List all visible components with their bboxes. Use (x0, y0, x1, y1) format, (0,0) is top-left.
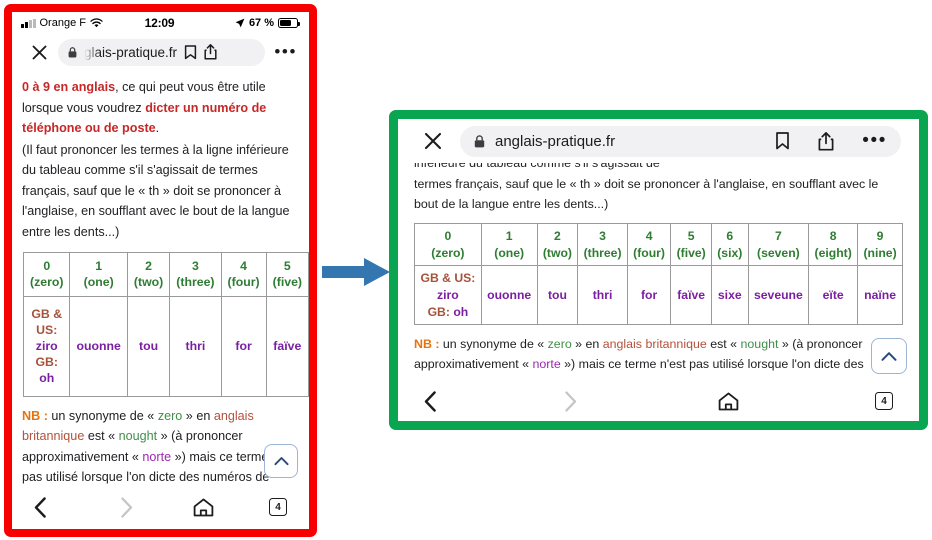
screenshot-canvas: Orange F 12:09 67 % (0, 0, 932, 540)
header-cell-7: 7 (seven) (748, 224, 809, 266)
digit-0: 0 (445, 229, 452, 243)
word-1: (one) (84, 275, 114, 289)
header-cell-5: 5 (five) (671, 224, 712, 266)
pron-cell-0: GB & US: ziro GB: oh (415, 266, 482, 325)
word-2: (two) (134, 275, 163, 289)
word-2: (two) (543, 246, 572, 260)
pron-cell-3: thri (578, 266, 628, 325)
word-3: (three) (176, 275, 214, 289)
table-header-row: 0 (zero) 1 (one) 2 (two) (415, 224, 903, 266)
numbers-table-wrapper-right: 0 (zero) 1 (one) 2 (two) (414, 223, 903, 325)
pron-0: ziro (437, 288, 459, 302)
nb-part-2: » en (182, 409, 214, 423)
nb-part-2: » en (572, 337, 603, 351)
tab-count-badge: 4 (269, 498, 287, 516)
share-icon[interactable] (818, 132, 834, 151)
phone-screenshot-right: anglais-pratique.fr ••• inférieure du ta… (389, 110, 928, 430)
pron-cell-5: faïve (671, 266, 712, 325)
pron-cell-2: tou (127, 296, 169, 396)
browser-bottom-nav-right: 4 (398, 381, 919, 421)
forward-button-right (534, 391, 674, 412)
clipped-text-row: inférieure du tableau comme s'il s'agiss… (414, 163, 903, 172)
wifi-icon (90, 18, 103, 28)
header-cell-3: 3 (three) (170, 253, 221, 296)
pron-cell-4: for (221, 296, 266, 396)
browser-bottom-nav-left: 4 (12, 485, 309, 529)
zero-alt: oh (39, 371, 54, 385)
status-bar: Orange F 12:09 67 % (12, 12, 309, 34)
page-content-right: inférieure du tableau comme s'il s'agiss… (398, 163, 919, 374)
word-7: (seven) (757, 246, 800, 260)
word-4: (four) (228, 275, 260, 289)
numbers-table-wrapper-left: 0 (zero) 1 (one) 2 (two) 3 (23, 252, 309, 396)
nb-norte: norte (142, 450, 171, 464)
header-cell-0: 0 (zero) (415, 224, 482, 266)
header-cell-4: 4 (four) (627, 224, 670, 266)
pron-cell-8: eïte (809, 266, 858, 325)
zero-label-gb: GB: (35, 355, 58, 369)
paren-paragraph: (Il faut prononcer les termes à la ligne… (22, 140, 299, 243)
clipped-text: inférieure du tableau comme s'il s'agiss… (414, 163, 903, 172)
word-6: (six) (717, 246, 742, 260)
pron-0: ziro (36, 339, 58, 353)
word-9: (nine) (863, 246, 896, 260)
more-options-icon[interactable]: ••• (862, 135, 887, 146)
pron-cell-4: for (627, 266, 670, 325)
nb-zero: zero (158, 409, 183, 423)
word-0: (zero) (30, 275, 63, 289)
pron-cell-9: naïne (858, 266, 903, 325)
nb-nought: nought (741, 337, 779, 351)
header-cell-2: 2 (two) (127, 253, 169, 296)
home-icon (718, 392, 739, 411)
header-cell-1: 1 (one) (481, 224, 537, 266)
pron-cell-0: GB & US: ziro GB: oh (24, 296, 70, 396)
status-time: 12:09 (145, 16, 175, 30)
address-bar-left[interactable]: glais-pratique.fr (58, 39, 265, 66)
nb-label: NB : (414, 337, 439, 351)
nb-part-1: un synonyme de « (48, 409, 158, 423)
signal-bars-icon (21, 19, 36, 28)
nb-label: NB : (22, 409, 48, 423)
back-button-right[interactable] (424, 391, 534, 412)
word-1: (one) (494, 246, 524, 260)
chevron-up-icon (881, 351, 897, 362)
url-text-right: anglais-pratique.fr (495, 133, 615, 150)
digit-0: 0 (43, 259, 50, 273)
digit-3: 3 (599, 229, 606, 243)
header-cell-5: 5 (five) (266, 253, 308, 296)
table-body-row: GB & US: ziro GB: oh ouonne tou thri for… (24, 296, 310, 396)
page-content-left: 0 à 9 en anglais, ce qui peut vous être … (12, 70, 309, 242)
lock-icon (68, 47, 77, 58)
intro-text-2: . (156, 121, 160, 135)
more-options-icon[interactable]: ••• (274, 47, 297, 57)
header-cell-9: 9 (nine) (858, 224, 903, 266)
pron-cell-5: faïve (266, 296, 308, 396)
digit-1: 1 (95, 259, 102, 273)
digit-1: 1 (506, 229, 513, 243)
digit-6: 6 (726, 229, 733, 243)
scroll-to-top-button-right[interactable] (871, 338, 907, 374)
zero-label-gbus: GB & US: (420, 271, 475, 285)
nb-anglais: anglais britannique (603, 337, 707, 351)
digit-2: 2 (145, 259, 152, 273)
numbers-table-right: 0 (zero) 1 (one) 2 (two) (414, 223, 903, 325)
digit-7: 7 (775, 229, 782, 243)
phone-screen-left: Orange F 12:09 67 % (12, 12, 309, 529)
header-cell-6: 6 (six) (711, 224, 748, 266)
header-cell-4: 4 (four) (221, 253, 266, 296)
share-icon[interactable] (204, 44, 217, 60)
pron-cell-1: ouonne (481, 266, 537, 325)
browser-toolbar-left: glais-pratique.fr ••• (12, 34, 309, 70)
intro-paragraph: 0 à 9 en anglais, ce qui peut vous être … (22, 77, 299, 139)
scroll-to-top-button-left[interactable] (264, 444, 298, 478)
pron-cell-1: ouonne (70, 296, 127, 396)
phone-screen-right: anglais-pratique.fr ••• inférieure du ta… (398, 119, 919, 421)
table-header-row: 0 (zero) 1 (one) 2 (two) 3 (24, 253, 310, 296)
digit-4: 4 (646, 229, 653, 243)
home-button-left[interactable] (176, 498, 232, 517)
pron-cell-7: seveune (748, 266, 809, 325)
tab-switcher-right[interactable]: 4 (783, 392, 893, 410)
lock-icon (474, 135, 485, 148)
numbers-table-left: 0 (zero) 1 (one) 2 (two) 3 (23, 252, 309, 396)
nb-part-3: est « (84, 429, 118, 443)
nb-nought: nought (119, 429, 158, 443)
digit-5: 5 (688, 229, 695, 243)
nb-part-3: est « (707, 337, 741, 351)
bookmark-icon[interactable] (775, 132, 790, 150)
tab-switcher-left[interactable]: 4 (231, 498, 287, 516)
word-4: (four) (633, 246, 665, 260)
digit-5: 5 (284, 259, 291, 273)
digit-2: 2 (554, 229, 561, 243)
nb-part-5: ») mais ce terme n'est pas utilisé lorsq… (561, 357, 864, 371)
zero-label-gbus-b: US: (36, 323, 57, 337)
word-0: (zero) (431, 246, 464, 260)
header-cell-2: 2 (two) (537, 224, 578, 266)
word-5: (five) (677, 246, 706, 260)
chevron-up-icon (274, 456, 289, 466)
pron-cell-3: thri (170, 296, 221, 396)
phone-screenshot-left: Orange F 12:09 67 % (4, 4, 317, 537)
nb-zero: zero (548, 337, 572, 351)
digit-3: 3 (192, 259, 199, 273)
header-cell-3: 3 (three) (578, 224, 628, 266)
pron-cell-6: sixe (711, 266, 748, 325)
zero-label-gbus-a: GB & (31, 307, 62, 321)
intro-bold-1: 0 à 9 en anglais (22, 80, 115, 94)
nb-paragraph: NB : un synonyme de « zero » en anglais … (414, 334, 903, 374)
close-icon[interactable] (418, 126, 448, 156)
word-3: (three) (584, 246, 622, 260)
digit-4: 4 (240, 259, 247, 273)
digit-8: 8 (830, 229, 837, 243)
location-arrow-icon (235, 18, 245, 28)
forward-button-left (90, 497, 176, 518)
zero-label-gb: GB: (428, 305, 450, 319)
word-5: (five) (273, 275, 302, 289)
paren-tail-paragraph: termes français, sauf que le « th » doit… (414, 174, 903, 214)
zero-alt: oh (453, 305, 468, 319)
word-8: (eight) (815, 246, 852, 260)
tab-count-badge: 4 (875, 392, 893, 410)
header-cell-1: 1 (one) (70, 253, 127, 296)
battery-percent-label: 67 % (249, 17, 274, 29)
digit-9: 9 (877, 229, 884, 243)
carrier-label: Orange F (40, 17, 86, 29)
close-icon[interactable] (26, 39, 52, 65)
header-cell-0: 0 (zero) (24, 253, 70, 296)
browser-toolbar-right: anglais-pratique.fr ••• (398, 119, 919, 163)
nb-norte: norte (532, 357, 560, 371)
back-button-left[interactable] (34, 497, 90, 518)
nb-part-1: un synonyme de « (439, 337, 547, 351)
home-button-right[interactable] (674, 392, 784, 411)
pron-cell-2: tou (537, 266, 578, 325)
battery-icon (278, 18, 298, 28)
table-body-row: GB & US: ziro GB: oh ouonne tou thri for… (415, 266, 903, 325)
home-icon (193, 498, 214, 517)
right-arrow-icon (322, 256, 390, 293)
bookmark-icon[interactable] (184, 45, 197, 60)
header-cell-8: 8 (eight) (809, 224, 858, 266)
address-bar-right[interactable]: anglais-pratique.fr ••• (460, 126, 901, 157)
url-text-left: glais-pratique.fr (84, 45, 177, 60)
